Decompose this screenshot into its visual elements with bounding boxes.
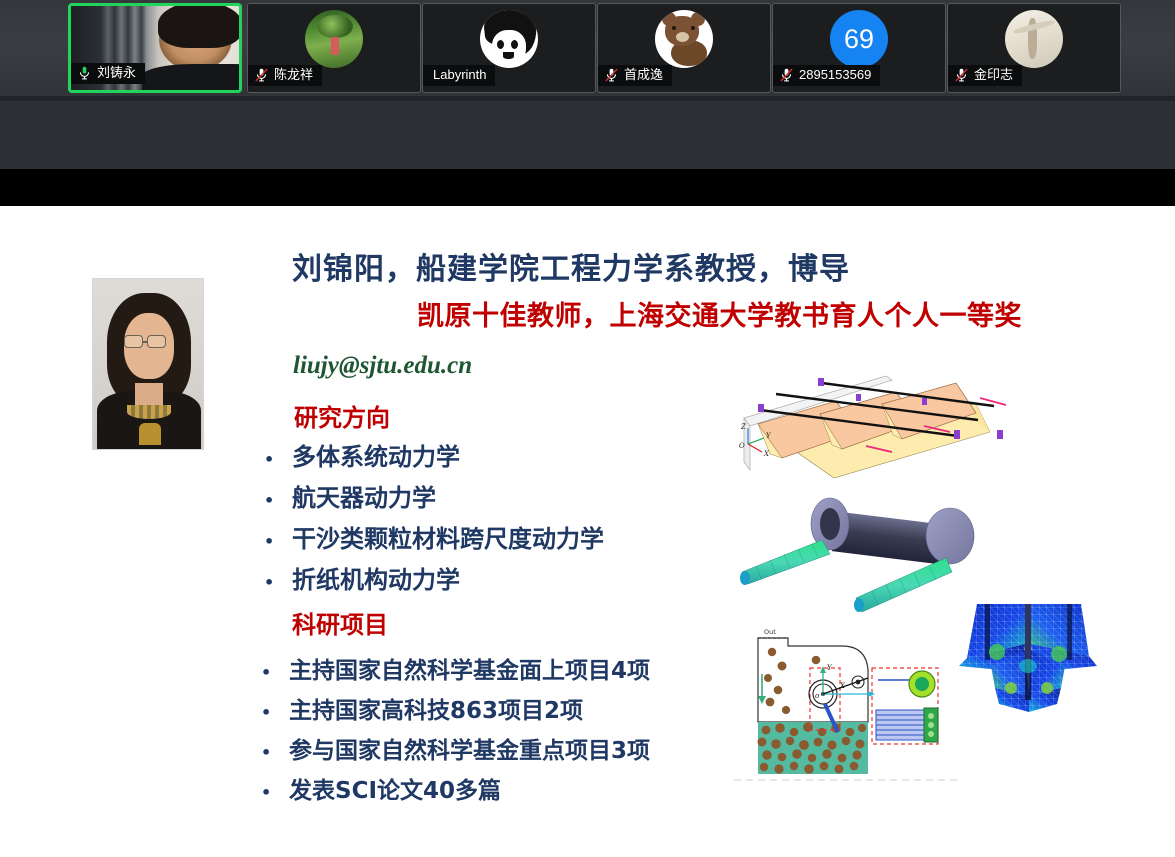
avatar [480, 10, 538, 68]
mic-muted-icon [604, 67, 619, 83]
svg-text:Z: Z [740, 423, 746, 431]
bullet-glyph: • [264, 481, 292, 520]
mic-muted-icon [254, 67, 269, 83]
participant-name-bar-4: 首成逸 [598, 65, 672, 86]
participant-tile-4[interactable]: 首成逸 [597, 3, 771, 93]
participant-tile-1[interactable]: 刘铸永 [68, 3, 242, 93]
bullet-glyph: • [261, 734, 289, 772]
origami-mesh-figure [955, 600, 1105, 728]
section-heading-research: 研究方向 [294, 398, 390, 433]
svg-text:X: X [839, 682, 846, 690]
list-item-label: 干沙类颗粒材料跨尺度动力学 [292, 520, 604, 559]
mic-muted-icon [779, 67, 794, 83]
list-item-label: 主持国家自然科学基金面上项目4项 [289, 652, 650, 690]
participant-name-bar-1: 刘铸永 [71, 63, 145, 84]
list-item-label: 航天器动力学 [292, 479, 436, 518]
list-item: • 主持国家高科技863项目2项 [261, 692, 650, 732]
participant-name-label-3: Labyrinth [433, 67, 486, 83]
portrait-photo [92, 278, 204, 450]
participant-tile-3[interactable]: Labyrinth [422, 3, 596, 93]
participant-tile-2[interactable]: 陈龙祥 [247, 3, 421, 93]
participant-name-bar-3: Labyrinth [423, 65, 495, 86]
svg-text:X: X [763, 450, 770, 458]
avatar-number-badge: 69 [830, 10, 888, 68]
slide-title: 刘锦阳，船建学院工程力学系教授，博导 [292, 244, 850, 288]
svg-text:Out: Out [764, 628, 776, 636]
list-item-label: 发表SCI论文40多篇 [289, 772, 501, 810]
bullet-glyph: • [264, 563, 292, 602]
participant-name-label-5: 2895153569 [799, 67, 871, 83]
avatar [655, 10, 713, 68]
participant-thumbnail-strip: 刘铸永 陈龙祥 Labyrinth [0, 0, 1175, 96]
list-item: • 主持国家自然科学基金面上项目4项 [261, 652, 650, 692]
list-item: • 折纸机构动力学 [264, 561, 604, 602]
mic-on-icon [77, 65, 92, 81]
mic-muted-icon [954, 67, 969, 83]
list-item: • 航天器动力学 [264, 479, 604, 520]
slide-subtitle: 凯原十佳教师，上海交通大学教书育人个人一等奖 [417, 294, 1022, 333]
avatar-badge-text: 69 [844, 24, 874, 55]
list-item-label: 多体系统动力学 [292, 438, 460, 477]
list-item-label: 主持国家高科技863项目2项 [289, 692, 583, 730]
participant-name-label-2: 陈龙祥 [274, 67, 313, 83]
shared-screen-letterbox-top [0, 101, 1175, 169]
research-projects-list: • 主持国家自然科学基金面上项目4项 • 主持国家高科技863项目2项 • 参与… [261, 652, 650, 812]
list-item: • 参与国家自然科学基金重点项目3项 [261, 732, 650, 772]
bullet-glyph: • [261, 694, 289, 732]
list-item: • 多体系统动力学 [264, 438, 604, 479]
section-heading-projects: 科研项目 [292, 605, 388, 640]
participant-name-bar-6: 金印志 [948, 65, 1022, 86]
granular-particle-figure: Out YX o [720, 622, 972, 784]
svg-text:O: O [739, 442, 745, 450]
avatar [305, 10, 363, 68]
svg-text:o: o [815, 692, 819, 700]
origami-sheet-figure: ZY OX [726, 366, 1074, 492]
bullet-glyph: • [264, 522, 292, 561]
participant-name-bar-5: 2895153569 [773, 65, 880, 86]
participant-tile-5[interactable]: 69 2895153569 [772, 3, 946, 93]
list-item-label: 折纸机构动力学 [292, 561, 460, 600]
list-item: • 干沙类颗粒材料跨尺度动力学 [264, 520, 604, 561]
list-item: • 发表SCI论文40多篇 [261, 772, 650, 812]
shared-screen-black-bar [0, 169, 1175, 206]
bullet-glyph: • [264, 440, 292, 479]
participant-name-label-6: 金印志 [974, 67, 1013, 83]
participant-name-label-1: 刘铸永 [97, 65, 136, 81]
bullet-glyph: • [261, 654, 289, 692]
email-address: liujy@sjtu.edu.cn [293, 352, 472, 380]
participant-name-bar-2: 陈龙祥 [248, 65, 322, 86]
participant-name-label-4: 首成逸 [624, 67, 663, 83]
participant-tile-6[interactable]: 金印志 [947, 3, 1121, 93]
list-item-label: 参与国家自然科学基金重点项目3项 [289, 732, 650, 770]
avatar [1005, 10, 1063, 68]
bullet-glyph: • [261, 774, 289, 812]
research-directions-list: • 多体系统动力学 • 航天器动力学 • 干沙类颗粒材料跨尺度动力学 • 折纸机… [264, 438, 604, 602]
